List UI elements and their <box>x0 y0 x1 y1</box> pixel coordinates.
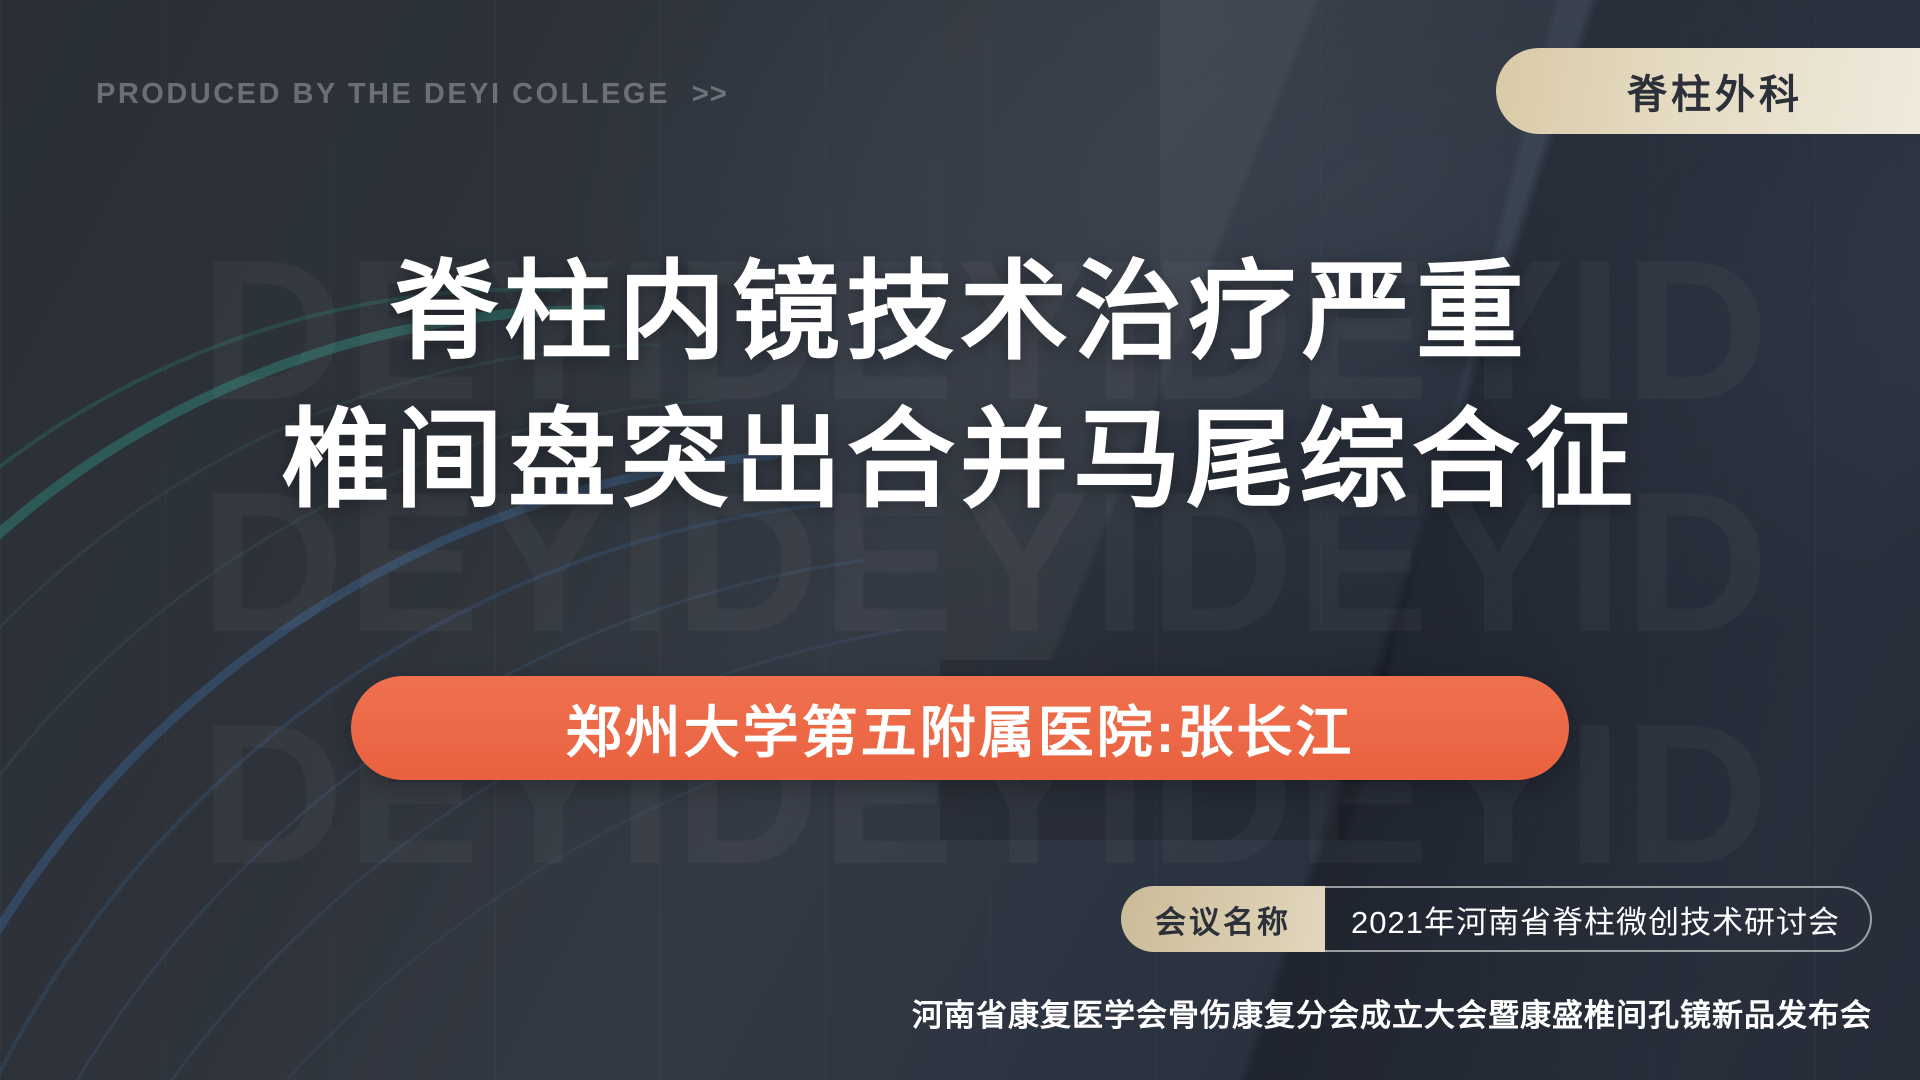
department-badge-label: 脊柱外科 <box>1627 62 1803 120</box>
page-title: 脊柱内镜技术治疗严重 椎间盘突出合并马尾综合征 <box>0 252 1920 520</box>
title-line-1: 脊柱内镜技术治疗严重 <box>0 252 1920 372</box>
poster-canvas: DEYIDEYIDEYIDEYI DEYIDEYIDEYIDEYI DEYIDE… <box>0 0 1920 1080</box>
meeting-name: 2021年河南省脊柱微创技术研讨会 <box>1325 886 1872 952</box>
double-chevron-right-icon: >> <box>692 78 728 110</box>
meeting-row: 会议名称 2021年河南省脊柱微创技术研讨会 <box>1121 886 1872 952</box>
meeting-name-label: 2021年河南省脊柱微创技术研讨会 <box>1351 897 1840 942</box>
title-line-2: 椎间盘突出合并马尾综合征 <box>0 400 1920 520</box>
meeting-tag-label: 会议名称 <box>1155 897 1291 942</box>
department-badge: 脊柱外科 <box>1496 48 1920 134</box>
meeting-tag: 会议名称 <box>1121 886 1325 952</box>
meeting-subtitle: 河南省康复医学会骨伤康复分会成立大会暨康盛椎间孔镜新品发布会 <box>912 990 1872 1035</box>
speaker-pill-label: 郑州大学第五附属医院:张长江 <box>566 688 1355 769</box>
produced-by-label: PRODUCED BY THE DEYI COLLEGE>> <box>96 78 728 111</box>
speaker-pill: 郑州大学第五附属医院:张长江 <box>351 676 1569 780</box>
produced-by-text: PRODUCED BY THE DEYI COLLEGE <box>96 78 670 110</box>
